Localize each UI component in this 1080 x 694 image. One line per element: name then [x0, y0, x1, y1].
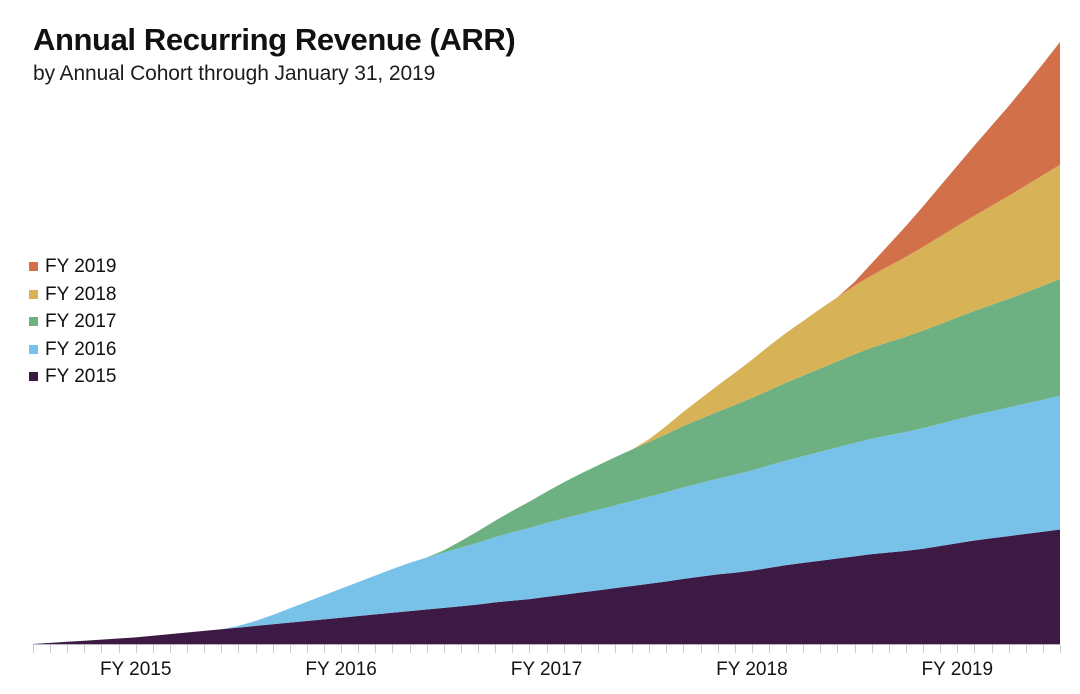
x-axis-tick — [358, 645, 359, 653]
x-axis-tick — [564, 645, 565, 653]
x-axis-tick — [478, 645, 479, 653]
legend-item-label: FY 2017 — [45, 312, 116, 331]
x-axis-tick — [701, 645, 702, 653]
x-axis-tick — [341, 645, 342, 653]
x-axis-tick — [136, 645, 137, 653]
x-axis-tick — [820, 645, 821, 653]
x-axis-tick — [855, 645, 856, 653]
legend-swatch-icon — [29, 290, 38, 299]
x-axis-label: FY 2016 — [305, 655, 376, 685]
x-axis-tick — [615, 645, 616, 653]
x-axis-tick — [1026, 645, 1027, 653]
legend-item[interactable]: FY 2018 — [29, 281, 116, 309]
x-axis-tick — [324, 645, 325, 653]
x-axis-tick — [666, 645, 667, 653]
x-axis-tick — [273, 645, 274, 653]
x-axis-label: FY 2019 — [922, 655, 993, 685]
legend-item[interactable]: FY 2017 — [29, 308, 116, 336]
x-axis-tick — [392, 645, 393, 653]
x-axis-tick — [461, 645, 462, 653]
x-axis-tick — [529, 645, 530, 653]
x-axis-tick — [786, 645, 787, 653]
x-axis-tick — [256, 645, 257, 653]
x-axis-tick — [512, 645, 513, 653]
x-axis-tick — [1043, 645, 1044, 653]
x-axis-tick — [581, 645, 582, 653]
x-axis-tick — [735, 645, 736, 653]
x-axis-tick — [290, 645, 291, 653]
x-axis-tick — [769, 645, 770, 653]
legend-swatch-icon — [29, 262, 38, 271]
legend-item[interactable]: FY 2015 — [29, 363, 116, 391]
x-axis-tick — [992, 645, 993, 653]
x-axis-tick — [803, 645, 804, 653]
x-axis-tick — [649, 645, 650, 653]
x-axis-tick — [906, 645, 907, 653]
x-axis-tick — [410, 645, 411, 653]
legend-item[interactable]: FY 2019 — [29, 253, 116, 281]
legend-item[interactable]: FY 2016 — [29, 336, 116, 364]
chart-legend: FY 2019FY 2018FY 2017FY 2016FY 2015 — [29, 253, 116, 391]
arr-stacked-area-chart: Annual Recurring Revenue (ARR) by Annual… — [0, 0, 1080, 694]
legend-swatch-icon — [29, 345, 38, 354]
legend-item-label: FY 2015 — [45, 367, 116, 386]
x-axis-tick — [718, 645, 719, 653]
x-axis-tick — [67, 645, 68, 653]
x-axis-tick — [444, 645, 445, 653]
legend-item-label: FY 2016 — [45, 340, 116, 359]
x-axis-label: FY 2015 — [100, 655, 171, 685]
x-axis-tick — [238, 645, 239, 653]
x-axis-tick — [872, 645, 873, 653]
x-axis-tick — [33, 645, 34, 653]
x-axis-tick — [427, 645, 428, 653]
x-axis-tick — [547, 645, 548, 653]
legend-swatch-icon — [29, 317, 38, 326]
x-axis-tick — [119, 645, 120, 653]
x-axis-labels: FY 2015FY 2016FY 2017FY 2018FY 2019 — [33, 655, 1060, 687]
x-axis-tick — [940, 645, 941, 653]
x-axis-ticks — [33, 645, 1060, 653]
x-axis-tick — [632, 645, 633, 653]
x-axis-tick — [837, 645, 838, 653]
x-axis-label: FY 2017 — [511, 655, 582, 685]
x-axis-tick — [752, 645, 753, 653]
x-axis-tick — [307, 645, 308, 653]
x-axis-tick — [375, 645, 376, 653]
x-axis-tick — [101, 645, 102, 653]
x-axis-tick — [1060, 645, 1061, 653]
legend-item-label: FY 2019 — [45, 257, 116, 276]
x-axis-tick — [683, 645, 684, 653]
x-axis-tick — [221, 645, 222, 653]
x-axis-tick — [974, 645, 975, 653]
x-axis-tick — [170, 645, 171, 653]
x-axis-tick — [84, 645, 85, 653]
legend-swatch-icon — [29, 372, 38, 381]
plot-area — [33, 42, 1060, 644]
x-axis-tick — [923, 645, 924, 653]
x-axis-tick — [1009, 645, 1010, 653]
x-axis-tick — [495, 645, 496, 653]
x-axis-tick — [957, 645, 958, 653]
legend-item-label: FY 2018 — [45, 285, 116, 304]
x-axis-label: FY 2018 — [716, 655, 787, 685]
x-axis-tick — [204, 645, 205, 653]
x-axis-tick — [889, 645, 890, 653]
x-axis-tick — [50, 645, 51, 653]
stacked-area-svg — [33, 42, 1060, 644]
x-axis-tick — [187, 645, 188, 653]
x-axis-tick — [153, 645, 154, 653]
x-axis-tick — [598, 645, 599, 653]
